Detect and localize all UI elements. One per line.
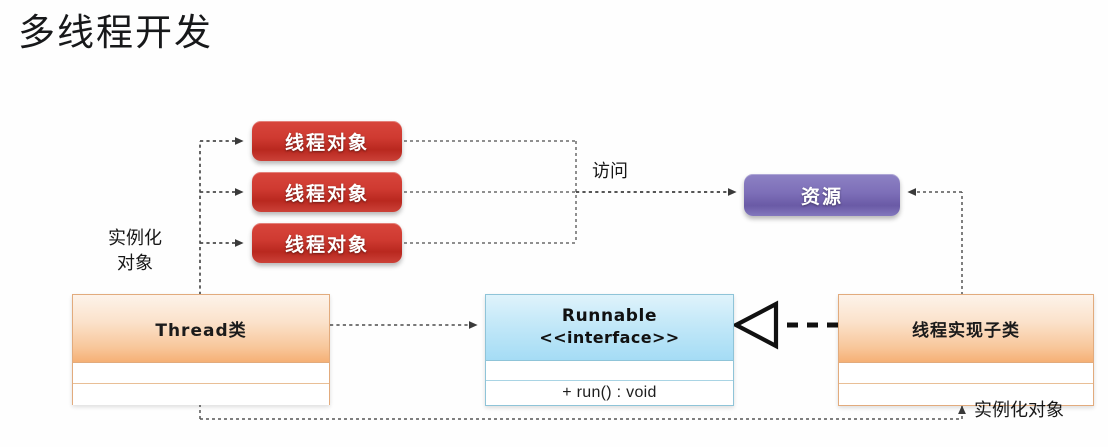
edge-subclass-accesses-resource	[908, 192, 962, 295]
class-header-thread: Thread类	[73, 295, 329, 363]
edge-subclass-implements-runnable	[736, 304, 838, 346]
class-methods-runnable: + run() : void	[486, 381, 733, 405]
edge-label-instantiate-objects: 实例化 对象	[108, 226, 162, 276]
resource-box[interactable]: 资源	[744, 174, 900, 216]
resource-label: 资源	[801, 182, 843, 209]
edge-label-access: 访问	[592, 157, 628, 183]
class-box-subclass[interactable]: 线程实现子类	[838, 294, 1094, 406]
thread-object-box-2[interactable]: 线程对象	[252, 172, 402, 212]
edge-objects-access-resource	[404, 141, 576, 243]
class-box-runnable[interactable]: Runnable <<interface>> + run() : void	[485, 294, 734, 406]
class-header-runnable: Runnable <<interface>>	[486, 295, 733, 361]
class-name-runnable: Runnable	[562, 306, 657, 328]
diagram-canvas: 多线程开发	[0, 0, 1108, 447]
edge-label-instantiate-objects-bottom: 实例化对象	[974, 396, 1064, 422]
hollow-triangle-icon	[736, 304, 776, 346]
class-stereotype-runnable: <<interface>>	[539, 328, 679, 348]
edge-label-line-2: 对象	[108, 251, 162, 276]
thread-object-box-3[interactable]: 线程对象	[252, 223, 402, 263]
class-attributes-runnable	[486, 361, 733, 381]
edge-thread-instantiates-subclass	[200, 404, 962, 419]
thread-object-label: 线程对象	[285, 230, 369, 257]
class-attributes-thread	[73, 363, 329, 384]
thread-object-box-1[interactable]: 线程对象	[252, 121, 402, 161]
class-box-thread[interactable]: Thread类	[72, 294, 330, 405]
class-attributes-subclass	[839, 363, 1093, 384]
thread-object-label: 线程对象	[285, 179, 369, 206]
class-header-subclass: 线程实现子类	[839, 295, 1093, 363]
edge-label-line-1: 实例化	[108, 226, 162, 251]
class-methods-thread	[73, 384, 329, 405]
edge-thread-instantiates-objects	[200, 141, 243, 295]
class-name-thread: Thread类	[155, 316, 246, 341]
class-name-subclass: 线程实现子类	[912, 316, 1020, 341]
thread-object-label: 线程对象	[285, 128, 369, 155]
